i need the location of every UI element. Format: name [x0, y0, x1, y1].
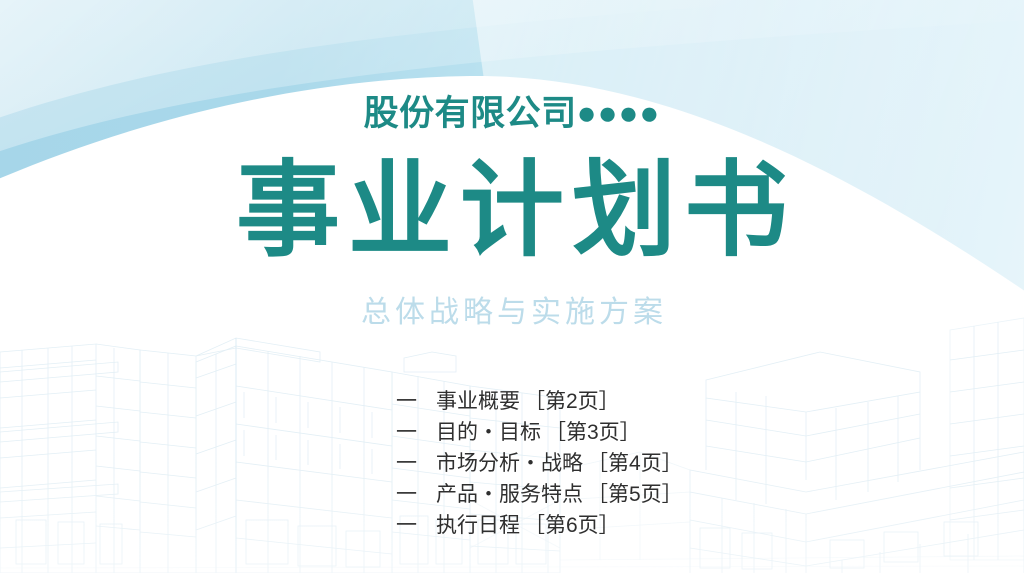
agenda-item-page: ［第5页］ [587, 479, 683, 510]
agenda-item-page: ［第4页］ [587, 448, 683, 479]
list-item[interactable]: 一 事业概要 ［第2页］ [396, 386, 620, 417]
page-title: 事业计划书 [0, 158, 1024, 264]
list-item[interactable]: 一 执行日程 ［第6页］ [396, 510, 620, 541]
company-name-line: 股份有限公司●●●● [0, 96, 1024, 131]
list-item[interactable]: 一 目的・目标 ［第3页］ [396, 417, 641, 448]
agenda-item-page: ［第3页］ [545, 417, 641, 448]
company-name-redacted-dots: ●●●● [577, 94, 661, 131]
dash-bullet-icon: 一 [396, 479, 436, 510]
agenda-item-label: 市场分析・战略 [436, 448, 583, 479]
agenda-item-label: 产品・服务特点 [436, 479, 583, 510]
dash-bullet-icon: 一 [396, 448, 436, 479]
title-slide: 股份有限公司●●●● 事业计划书 总体战略与实施方案 一 事业概要 ［第2页］ … [0, 0, 1024, 573]
agenda-item-label: 事业概要 [436, 386, 520, 417]
company-name-text: 股份有限公司 [364, 94, 577, 133]
list-item[interactable]: 一 产品・服务特点 ［第5页］ [396, 479, 683, 510]
dash-bullet-icon: 一 [396, 386, 436, 417]
dash-bullet-icon: 一 [396, 510, 436, 541]
list-item[interactable]: 一 市场分析・战略 ［第4页］ [396, 448, 683, 479]
slide-content: 股份有限公司●●●● 事业计划书 总体战略与实施方案 一 事业概要 ［第2页］ … [0, 0, 1024, 573]
dash-bullet-icon: 一 [396, 417, 436, 448]
agenda-list: 一 事业概要 ［第2页］ 一 目的・目标 ［第3页］ 一 市场分析・战略 ［第4… [0, 386, 1024, 541]
agenda-item-label: 目的・目标 [436, 417, 541, 448]
agenda-item-page: ［第2页］ [524, 386, 620, 417]
agenda-item-page: ［第6页］ [524, 510, 620, 541]
agenda-item-label: 执行日程 [436, 510, 520, 541]
page-subtitle: 总体战略与实施方案 [0, 295, 1024, 331]
